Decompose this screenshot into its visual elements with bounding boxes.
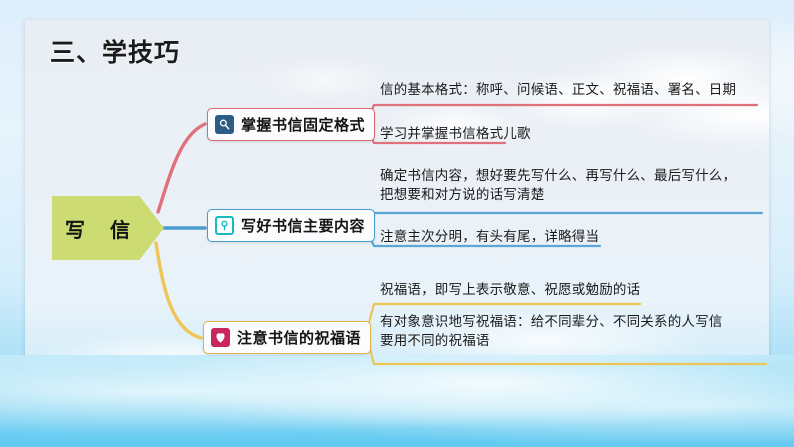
search-icon	[215, 115, 234, 134]
detail-text: 信的基本格式：称呼、问候语、正文、祝福语、署名、日期	[380, 81, 736, 100]
detail-text: 确定书信内容，想好要先写什么、再写什么、最后写什么， 把想要和对方说的话写清楚	[380, 167, 736, 205]
branch-node-content[interactable]: 写好书信主要内容	[207, 209, 375, 242]
branch-node-blessing[interactable]: 注意书信的祝福语	[203, 321, 371, 354]
branch-node-format[interactable]: 掌握书信固定格式	[207, 108, 375, 141]
detail-text: 注意主次分明，有头有尾，详略得当	[380, 228, 599, 247]
branch-node-label: 掌握书信固定格式	[241, 114, 365, 135]
document-icon	[215, 216, 234, 235]
mindmap-center-node[interactable]: 写 信	[52, 196, 164, 260]
branch-node-label: 写好书信主要内容	[241, 215, 365, 236]
center-node-label: 写 信	[52, 196, 164, 260]
detail-text: 学习并掌握书信格式儿歌	[380, 125, 531, 144]
slide-canvas: 三、学技巧 写 信 掌握书信固定格式	[0, 0, 794, 447]
branch-node-label: 注意书信的祝福语	[237, 327, 361, 348]
detail-text: 有对象意识地写祝福语：给不同辈分、不同关系的人写信 要用不同的祝福语	[380, 313, 723, 351]
detail-text: 祝福语，即写上表示敬意、祝愿或勉励的话	[380, 281, 640, 300]
page-title: 三、学技巧	[50, 33, 180, 69]
heart-icon	[211, 328, 230, 347]
water-band	[0, 355, 794, 447]
